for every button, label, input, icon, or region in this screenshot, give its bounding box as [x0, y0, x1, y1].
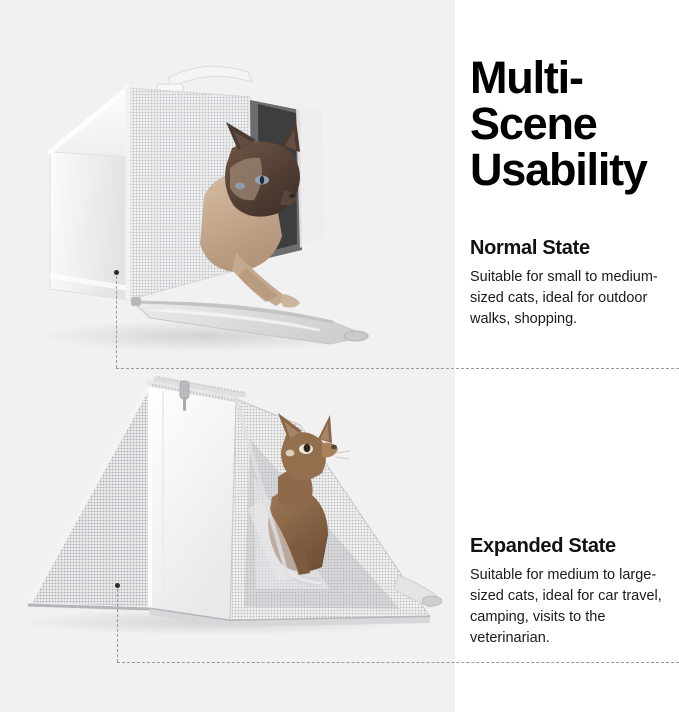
section-expanded-state: Expanded State Suitable for medium to la… [470, 534, 670, 649]
page-title: Multi-Scene Usability [470, 55, 676, 193]
section-body-normal-state: Suitable for small to medium-sized cats,… [470, 267, 670, 330]
section-title-expanded-state: Expanded State [470, 534, 670, 558]
divider-expanded-state [117, 662, 679, 663]
divider-normal-state [116, 368, 679, 369]
section-title-normal-state: Normal State [470, 236, 670, 260]
section-normal-state: Normal State Suitable for small to mediu… [470, 236, 670, 330]
infographic-page: Multi-Scene Usability Normal State Suita… [0, 0, 679, 712]
normal-state-photo [0, 0, 455, 368]
text-column: Multi-Scene Usability Normal State Suita… [455, 0, 679, 712]
expanded-state-photo [0, 369, 455, 663]
photo-column [0, 0, 455, 712]
section-body-expanded-state: Suitable for medium to large-sized cats,… [470, 565, 670, 649]
